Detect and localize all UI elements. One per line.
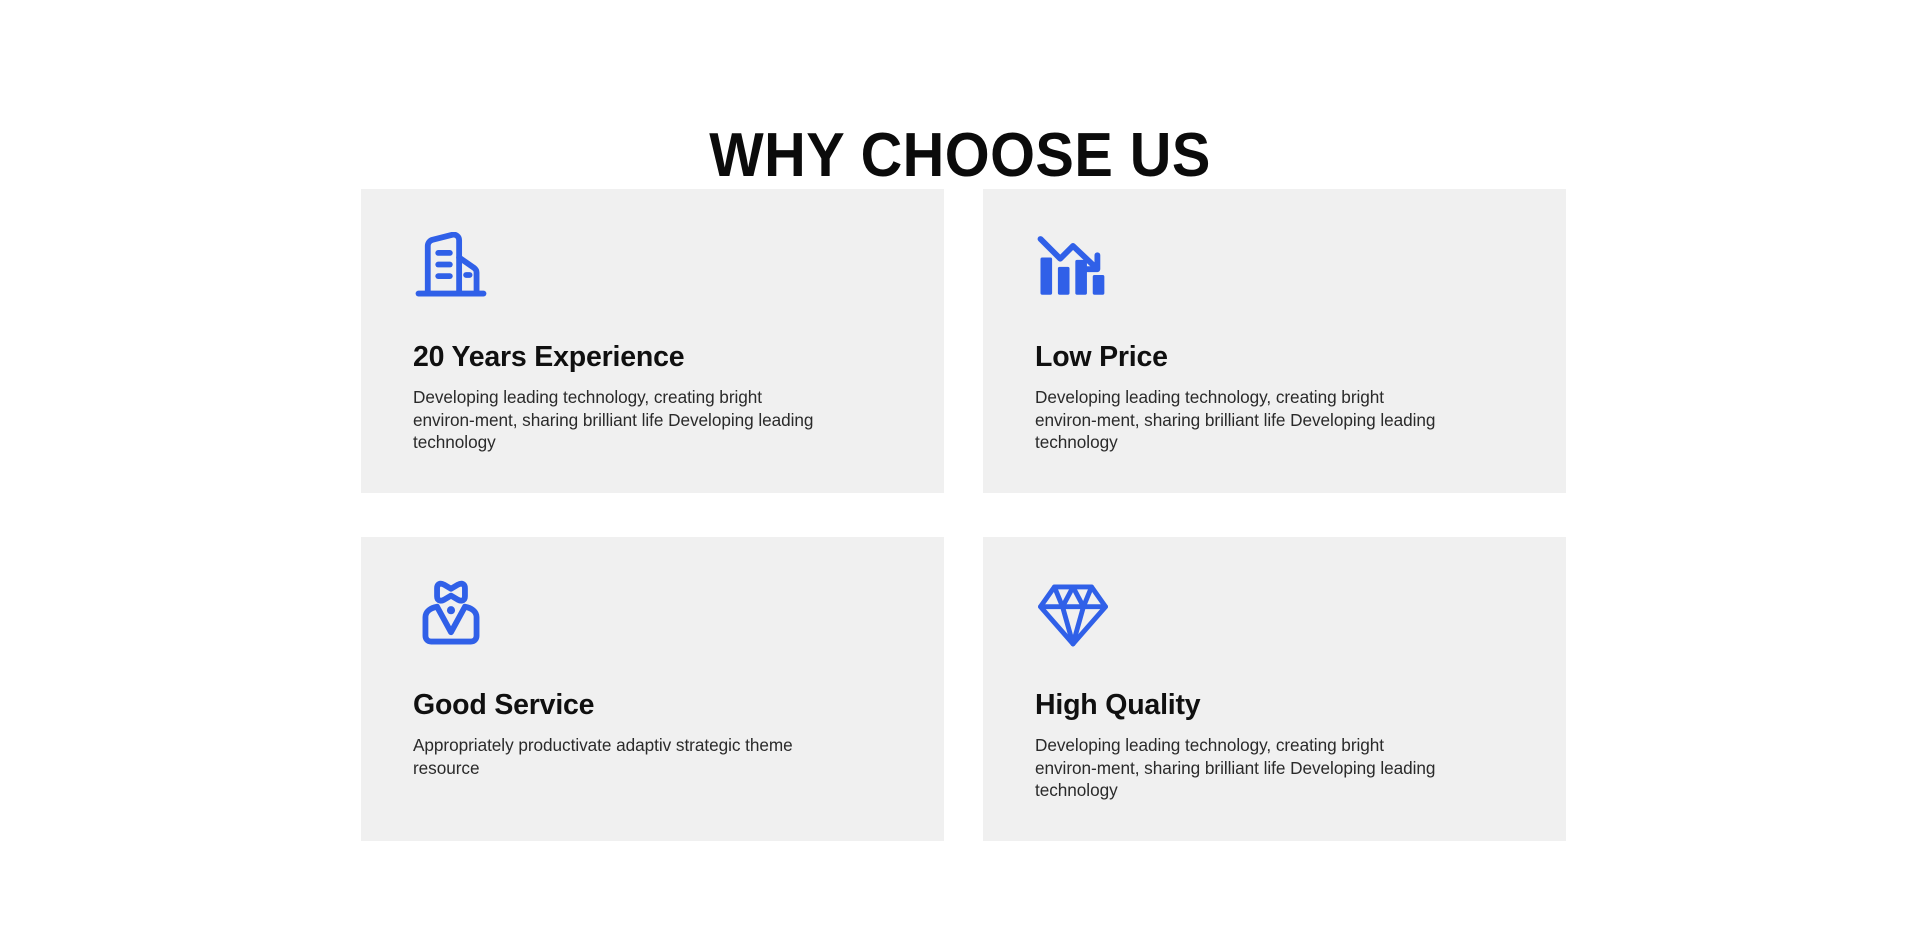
feature-card-description: Developing leading technology, creating … xyxy=(1035,386,1450,454)
feature-card-20-years-experience[interactable]: 20 Years Experience Developing leading t… xyxy=(361,189,944,493)
office-building-icon xyxy=(413,232,489,304)
feature-card-title: High Quality xyxy=(1035,688,1514,722)
feature-card-title: Good Service xyxy=(413,688,892,722)
feature-card-description: Developing leading technology, creating … xyxy=(1035,734,1450,802)
tuxedo-bowtie-icon xyxy=(413,580,489,652)
feature-card-description: Appropriately productivate adaptiv strat… xyxy=(413,734,828,779)
feature-card-high-quality[interactable]: High Quality Developing leading technolo… xyxy=(983,537,1566,841)
page-title: WHY CHOOSE US xyxy=(67,120,1853,192)
feature-card-description: Developing leading technology, creating … xyxy=(413,386,828,454)
feature-card-grid: 20 Years Experience Developing leading t… xyxy=(361,189,1566,841)
feature-card-title: 20 Years Experience xyxy=(413,340,892,374)
feature-card-title: Low Price xyxy=(1035,340,1514,374)
why-choose-us-section: WHY CHOOSE US 20 Years Experience Develo… xyxy=(0,0,1920,930)
feature-card-low-price[interactable]: Low Price Developing leading technology,… xyxy=(983,189,1566,493)
feature-card-good-service[interactable]: Good Service Appropriately productivate … xyxy=(361,537,944,841)
descending-bar-chart-icon xyxy=(1035,232,1111,304)
diamond-gem-icon xyxy=(1035,580,1111,652)
